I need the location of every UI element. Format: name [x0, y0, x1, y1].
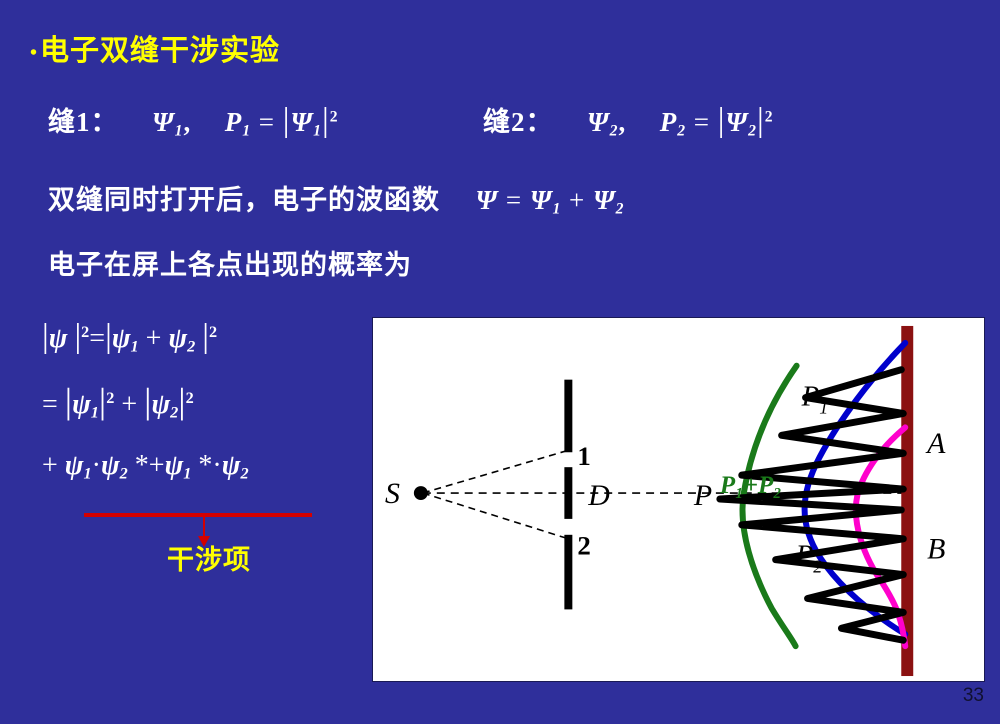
slit1-psi: Ψ	[152, 107, 175, 137]
f2-psi2: ψ	[151, 389, 170, 420]
f2-abs-close-2: |	[178, 381, 185, 421]
wavefunction-line: 双缝同时打开后，电子的波函数 Ψ = Ψ1 + Ψ2	[48, 178, 624, 218]
slit-1-label: 1	[577, 441, 590, 471]
f3-dot-1: ·	[92, 450, 101, 481]
slit1-abs-close: |	[322, 102, 330, 139]
title-text: 电子双缝干涉实验	[40, 35, 280, 67]
title-bullet-icon: •	[30, 42, 38, 64]
slit1-equals: =	[259, 107, 275, 137]
probability-text: 电子在屏上各点出现的概率为	[48, 250, 412, 280]
probability-line: 电子在屏上各点出现的概率为	[48, 243, 412, 282]
f3-psi1: ψ	[65, 450, 84, 481]
slit2-abs-psi: Ψ	[726, 107, 749, 137]
f1-rhs-psi1: ψ	[112, 323, 131, 354]
slit2-abs-psi-sub: 2	[748, 122, 757, 139]
point-p-label: P	[693, 479, 712, 512]
slit2-abs-close: |	[757, 102, 765, 139]
screen-point-b-label: B	[927, 533, 945, 566]
f2-power-2: 2	[186, 389, 194, 407]
slit2-p-sub: 2	[677, 122, 686, 139]
slit1-p: P	[225, 107, 243, 137]
wavefunction-psi1-sub: 1	[552, 200, 561, 217]
slit2-power: 2	[765, 108, 774, 125]
wavefunction-psi: Ψ	[476, 185, 499, 215]
f1-rhs-psi1-sub: 1	[131, 338, 139, 356]
screen-point-a-label: A	[925, 427, 946, 460]
slide-root: •电子双缝干涉实验 缝1： Ψ1, P1 = |Ψ1|2 缝2： Ψ2, P2 …	[0, 0, 1000, 724]
slit1-comma: ,	[183, 107, 191, 137]
curve-p2-label: P2	[795, 540, 823, 577]
slit1-abs-psi-sub: 1	[313, 122, 322, 139]
slit-2-label: 2	[577, 531, 590, 561]
f2-plus: +	[121, 389, 137, 420]
slit1-p-sub: 1	[242, 122, 251, 139]
f3-psi2b: ψ	[222, 450, 241, 481]
formula-line-3: + ψ1·ψ2 *+ψ1 *·ψ2	[42, 450, 249, 484]
slit2-psi: Ψ	[587, 107, 610, 137]
f1-rhs-abs-close: |	[202, 318, 209, 355]
wavefunction-plus: +	[569, 185, 585, 215]
f3-dot-2: ·	[212, 450, 221, 481]
interference-term-label: 干涉项	[167, 538, 251, 577]
page-title: •电子双缝干涉实验	[30, 27, 280, 69]
slit2-p: P	[660, 107, 678, 137]
wavefunction-text: 双缝同时打开后，电子的波函数	[48, 185, 440, 215]
slit2-line: 缝2： Ψ2, P2 = |Ψ2|2	[483, 100, 774, 140]
f1-rhs-abs-open: |	[105, 318, 112, 355]
sum-curve-label: P₁+P₂	[719, 472, 782, 499]
f2-psi1: ψ	[72, 389, 91, 420]
f2-abs-open-1: |	[65, 381, 72, 421]
f3-psi1-sub: 1	[84, 465, 92, 483]
diagram-svg: S 1 2 D P P1 P2	[373, 318, 984, 681]
wavefunction-psi2: Ψ	[593, 185, 616, 215]
f1-psi: ψ	[49, 323, 68, 354]
interference-underline	[84, 513, 312, 517]
ray-lines	[423, 450, 569, 539]
slit1-abs-psi: Ψ	[291, 107, 314, 137]
slit1-abs-open: |	[283, 102, 291, 139]
f1-rhs-psi2-sub: 2	[187, 338, 195, 356]
f3-plus-2: +	[149, 450, 165, 481]
f3-star-2: *	[198, 450, 212, 481]
f3-plus-1: +	[42, 450, 58, 481]
formula-line-1: |ψ |2=|ψ1 + ψ2 |2	[42, 318, 217, 357]
barrier	[564, 380, 572, 610]
f3-psi2-sub: 2	[120, 465, 128, 483]
f2-equals: =	[42, 389, 58, 420]
axis-distance-label: D	[587, 479, 610, 512]
curve-p1-label: P1	[801, 381, 829, 418]
slit1-power: 2	[330, 108, 339, 125]
slit2-abs-open: |	[718, 102, 726, 139]
f2-power-1: 2	[106, 389, 114, 407]
double-slit-diagram: S 1 2 D P P1 P2	[372, 317, 985, 682]
barrier-segment-middle	[564, 467, 572, 519]
barrier-segment-top	[564, 380, 572, 453]
slit2-comma: ,	[618, 107, 626, 137]
wavefunction-psi1: Ψ	[530, 185, 553, 215]
slit2-label: 缝2：	[483, 107, 554, 137]
slit1-label: 缝1：	[48, 107, 119, 137]
f1-plus: +	[146, 323, 162, 354]
f1-rhs-power: 2	[209, 323, 217, 341]
barrier-segment-bottom	[564, 535, 572, 610]
wavefunction-psi2-sub: 2	[616, 200, 625, 217]
f1-equals: =	[89, 323, 105, 354]
f3-psi1b-sub: 1	[183, 465, 191, 483]
slit2-equals: =	[694, 107, 710, 137]
slit1-line: 缝1： Ψ1, P1 = |Ψ1|2	[48, 100, 339, 140]
f1-rhs-psi2: ψ	[168, 323, 187, 354]
f3-star-1: *	[135, 450, 149, 481]
f2-psi1-sub: 1	[91, 404, 99, 422]
wavefunction-equals: =	[506, 185, 522, 215]
source-point	[414, 486, 428, 500]
page-number: 33	[963, 685, 984, 707]
f3-psi2: ψ	[101, 450, 120, 481]
f3-psi2b-sub: 2	[240, 465, 248, 483]
f3-psi1b: ψ	[165, 450, 184, 481]
f1-abs-open: |	[42, 318, 49, 355]
formula-line-2: = |ψ1|2 + |ψ2|2	[42, 380, 194, 423]
source-label: S	[385, 477, 400, 510]
